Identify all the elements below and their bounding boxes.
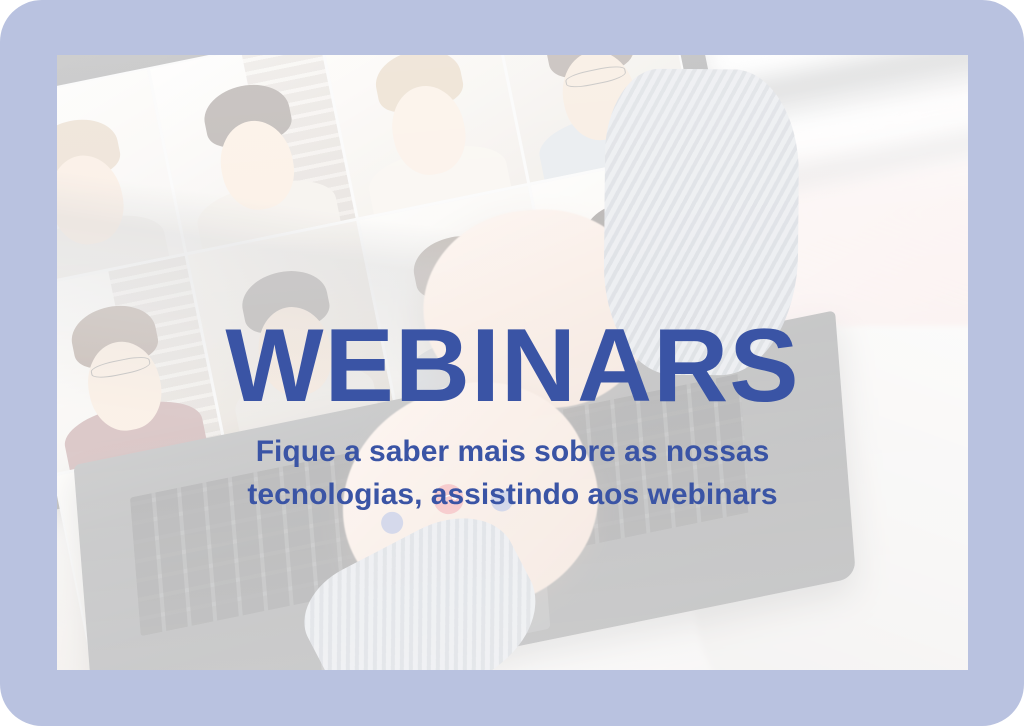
hero-photo: WEBINARS Fique a saber mais sobre as nos… <box>57 55 968 670</box>
laptop <box>57 55 810 670</box>
webinars-banner: WEBINARS Fique a saber mais sobre as nos… <box>0 0 1024 726</box>
video-tile[interactable] <box>150 55 355 252</box>
right-sleeve <box>602 69 799 376</box>
phone-hangup-icon <box>438 489 458 509</box>
